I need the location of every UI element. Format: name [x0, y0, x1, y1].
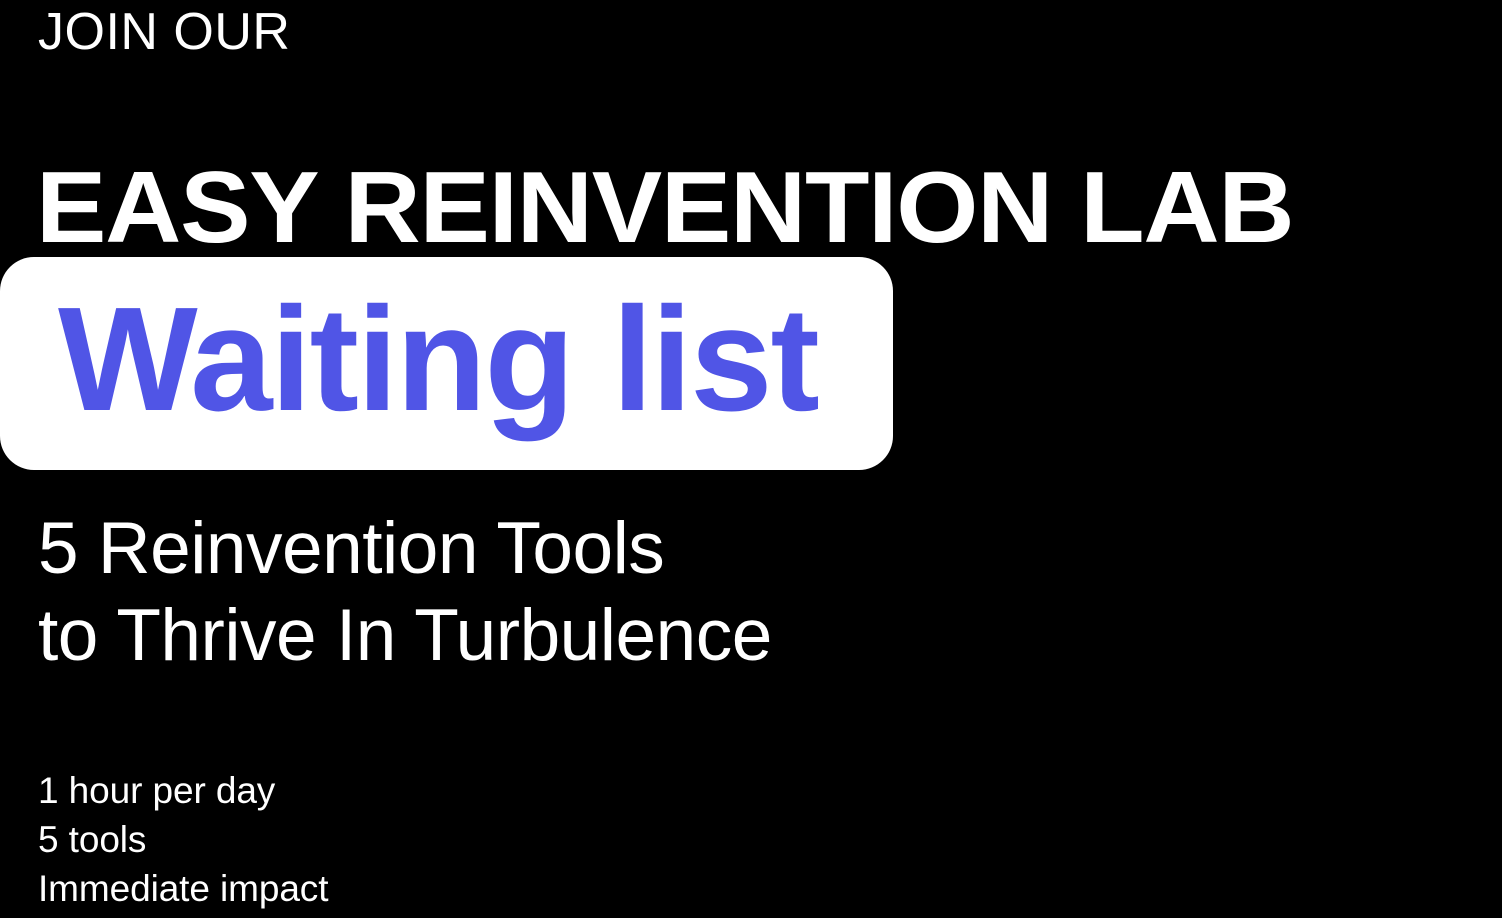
waiting-list-badge-label: Waiting list [58, 253, 818, 466]
subheading: 5 Reinvention Tools to Thrive In Turbule… [38, 506, 772, 680]
waiting-list-badge: Waiting list [0, 257, 893, 470]
benefit-item-duration: 1 hour per day [38, 766, 328, 815]
benefit-item-impact: Immediate impact [38, 864, 328, 913]
subheading-line-2: to Thrive In Turbulence [38, 593, 772, 680]
benefit-list: 1 hour per day 5 tools Immediate impact [38, 766, 328, 914]
page-title: EASY REINVENTION LAB [36, 158, 1293, 259]
promo-poster: JOIN OUR EASY REINVENTION LAB Waiting li… [0, 0, 1502, 918]
subheading-line-1: 5 Reinvention Tools [38, 506, 772, 593]
eyebrow-text: JOIN OUR [38, 4, 290, 61]
benefit-item-tools: 5 tools [38, 815, 328, 864]
